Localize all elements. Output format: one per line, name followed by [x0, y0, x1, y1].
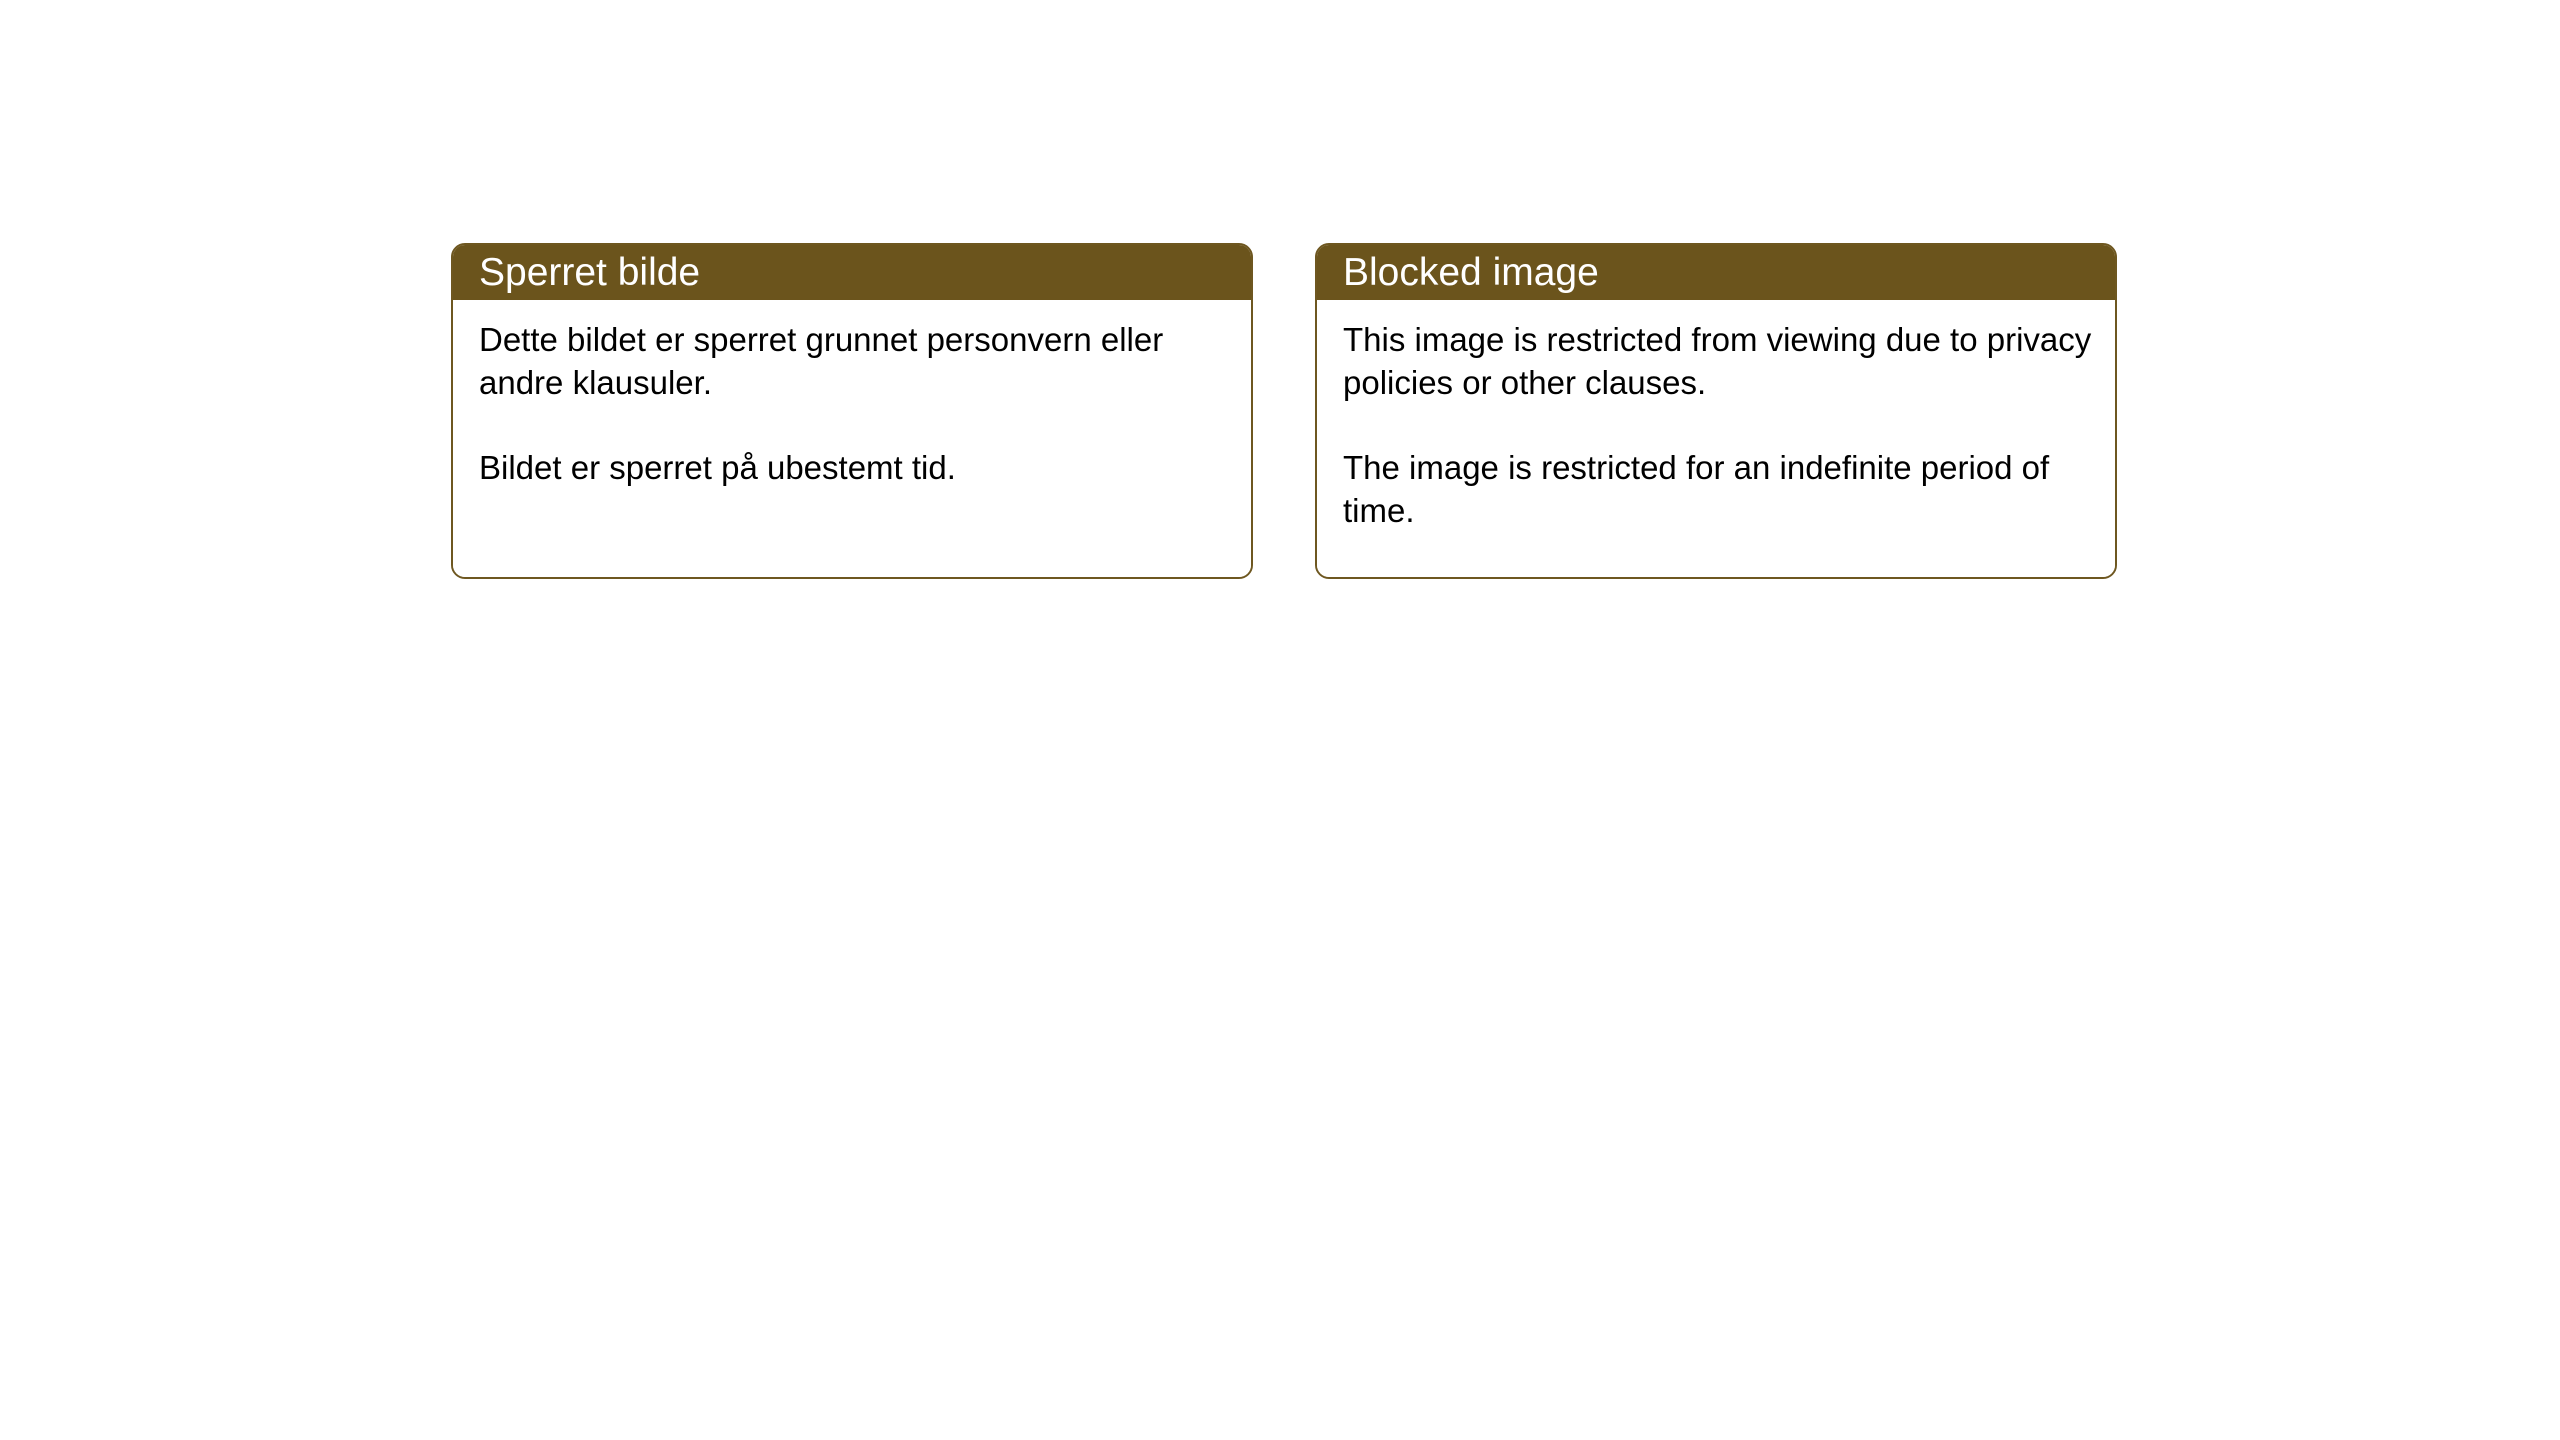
paragraph-spacer-english: [1343, 404, 2093, 446]
blocked-image-notice-card-english: Blocked image This image is restricted f…: [1315, 243, 2117, 579]
card-title-english: Blocked image: [1343, 253, 1599, 292]
card-paragraph-secondary-norwegian: Bildet er sperret på ubestemt tid.: [479, 446, 1229, 489]
paragraph-spacer-norwegian: [479, 404, 1229, 446]
card-header-english: Blocked image: [1317, 245, 2115, 300]
card-header-norwegian: Sperret bilde: [453, 245, 1251, 300]
page-root: Sperret bilde Dette bildet er sperret gr…: [0, 0, 2560, 1440]
blocked-image-notice-card-norwegian: Sperret bilde Dette bildet er sperret gr…: [451, 243, 1253, 579]
card-paragraph-primary-english: This image is restricted from viewing du…: [1343, 318, 2093, 404]
card-body-english: This image is restricted from viewing du…: [1317, 300, 2115, 577]
card-title-norwegian: Sperret bilde: [479, 253, 700, 292]
card-paragraph-secondary-english: The image is restricted for an indefinit…: [1343, 446, 2093, 532]
card-paragraph-primary-norwegian: Dette bildet er sperret grunnet personve…: [479, 318, 1229, 404]
card-body-norwegian: Dette bildet er sperret grunnet personve…: [453, 300, 1251, 577]
